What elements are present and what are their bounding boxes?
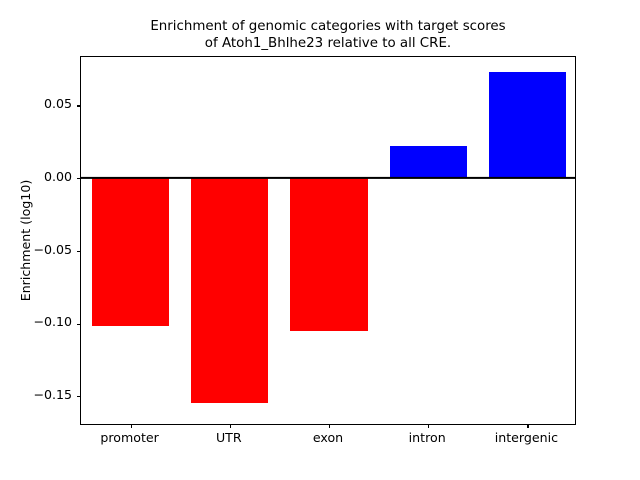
x-axis-tick-labels: promoterUTRexonintronintergenic xyxy=(80,431,576,451)
chart-figure: Enrichment of genomic categories with ta… xyxy=(0,0,640,480)
y-tick-label: −0.10 xyxy=(6,316,72,329)
y-tick-label: 0.00 xyxy=(6,171,72,184)
x-tick-label-exon: exon xyxy=(313,431,343,445)
x-tick-label-promoter: promoter xyxy=(100,431,158,445)
y-axis-title: Enrichment (log10) xyxy=(18,56,34,425)
x-tick-label-intergenic: intergenic xyxy=(495,431,558,445)
y-tick-label: 0.05 xyxy=(6,98,72,111)
y-tick-label: −0.15 xyxy=(6,389,72,402)
y-tick-label: −0.05 xyxy=(6,244,72,257)
x-tick-label-UTR: UTR xyxy=(216,431,242,445)
x-tick-label-intron: intron xyxy=(409,431,446,445)
y-axis-tick-labels: 0.050.00−0.05−0.10−0.15 xyxy=(0,0,640,480)
